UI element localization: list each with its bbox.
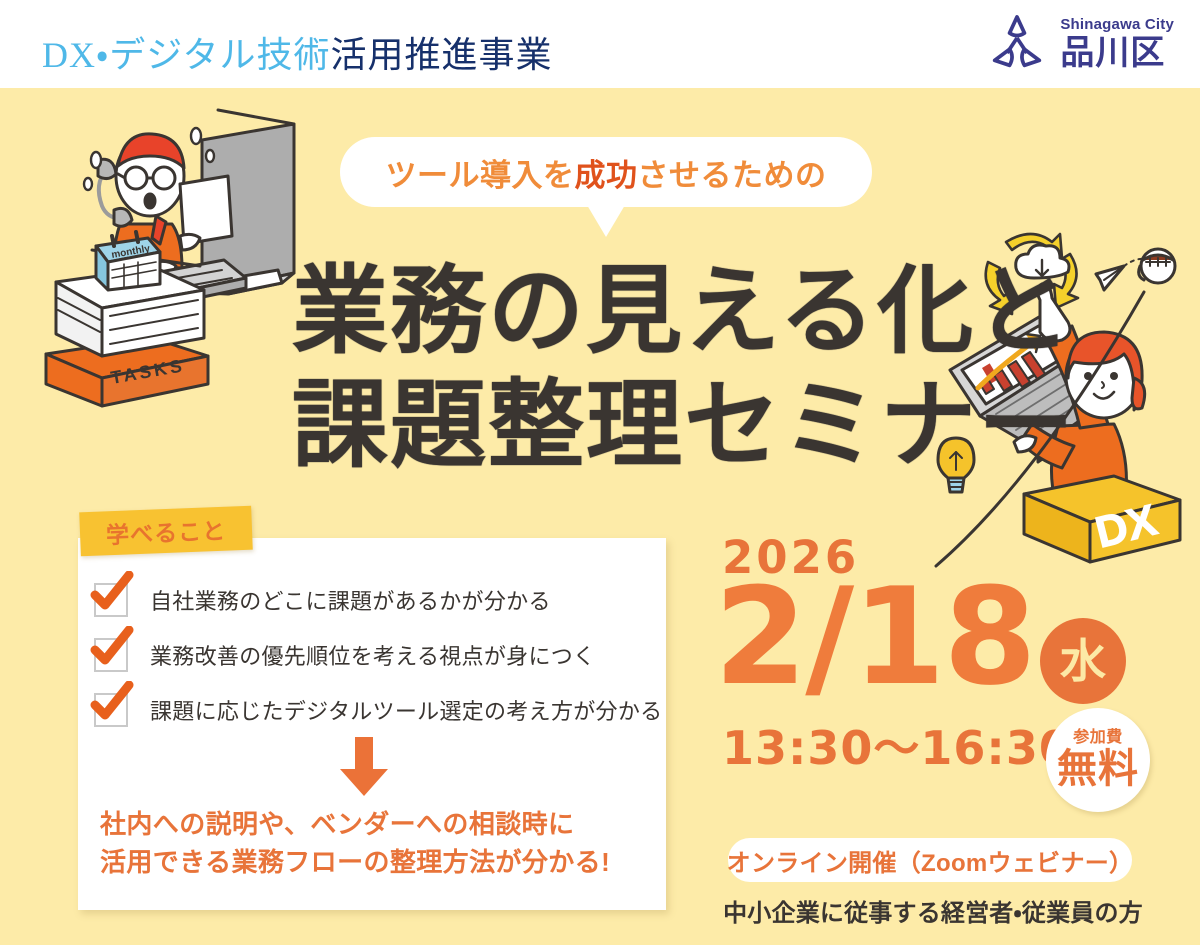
learning-points-tag: 学べること — [79, 506, 253, 557]
bubble-tail — [587, 205, 625, 237]
event-weekday-label: 水 — [1060, 638, 1106, 684]
learning-points-tag-label: 学べること — [105, 512, 226, 551]
list-item-label: 自社業務のどこに課題があるかが分かる — [150, 584, 551, 616]
shinagawa-emblem-icon — [986, 12, 1048, 74]
event-weekday-badge: 水 — [1040, 618, 1126, 704]
card-conclusion: 社内への説明や、ベンダーへの相談時に 活用できる業務フローの整理方法が分かる! — [100, 806, 660, 881]
checkbox — [94, 583, 128, 617]
down-arrow-icon — [338, 737, 390, 797]
page-title: 業務の見える化と 課題整理セミナー — [292, 264, 1076, 474]
tagline-pre: ツール導入を — [386, 158, 575, 193]
learning-points-list: 自社業務のどこに課題があるかが分かる 業務改善の優先順位を考える視点が身につく … — [94, 578, 654, 743]
page-header: DX・デジタル技術活用推進事業 Shinagawa City 品川区 — [0, 0, 1200, 88]
list-item: 業務改善の優先順位を考える視点が身につく — [94, 633, 654, 677]
event-format-pill: オンライン開催（Zoomウェビナー） — [728, 838, 1132, 882]
checkbox — [94, 638, 128, 672]
card-conclusion-line1: 社内への説明や、ベンダーへの相談時に — [100, 806, 660, 844]
header-title: DX・デジタル技術活用推進事業 — [42, 26, 553, 78]
page-title-line1: 業務の見える化と — [292, 264, 1076, 360]
fee-value: 無料 — [1057, 748, 1139, 790]
logo-text-jp: 品川区 — [1060, 36, 1165, 70]
card-conclusion-line2: 活用できる業務フローの整理方法が分かる! — [100, 844, 660, 882]
checkbox — [94, 693, 128, 727]
fee-badge: 参加費 無料 — [1046, 708, 1150, 812]
stressed-worker-illustration: TASKS monthly — [32, 98, 332, 408]
event-time: 13:30〜16:30 — [722, 712, 1072, 778]
check-icon — [90, 571, 134, 615]
page-title-line2: 課題整理セミナー — [292, 378, 1076, 474]
header-title-rest: 活用推進事業 — [331, 35, 553, 75]
list-item: 自社業務のどこに課題があるかが分かる — [94, 578, 654, 622]
tagline-post: させるための — [638, 158, 827, 193]
tagline-text: ツール導入を成功させるための — [386, 150, 827, 195]
shinagawa-logo: Shinagawa City 品川区 — [986, 12, 1174, 74]
event-date: 2/18 — [714, 570, 1035, 704]
logo-text-en: Shinagawa City — [1060, 17, 1174, 32]
event-audience: 中小企業に従事する経営者・従業員の方 — [718, 893, 1148, 928]
event-format-label: オンライン開催（Zoomウェビナー） — [727, 843, 1134, 878]
fee-label: 参加費 — [1073, 730, 1123, 746]
check-icon — [90, 626, 134, 670]
check-icon — [90, 681, 134, 725]
tagline-bubble: ツール導入を成功させるための — [340, 137, 872, 207]
list-item: 課題に応じたデジタルツール選定の考え方が分かる — [94, 688, 654, 732]
tagline-highlight: 成功 — [575, 158, 638, 193]
header-title-accent: DX・デジタル技術 — [42, 35, 331, 75]
list-item-label: 業務改善の優先順位を考える視点が身につく — [150, 639, 595, 671]
poster-root: DX・デジタル技術活用推進事業 Shinagawa City 品川区 — [0, 0, 1200, 945]
list-item-label: 課題に応じたデジタルツール選定の考え方が分かる — [150, 694, 662, 726]
